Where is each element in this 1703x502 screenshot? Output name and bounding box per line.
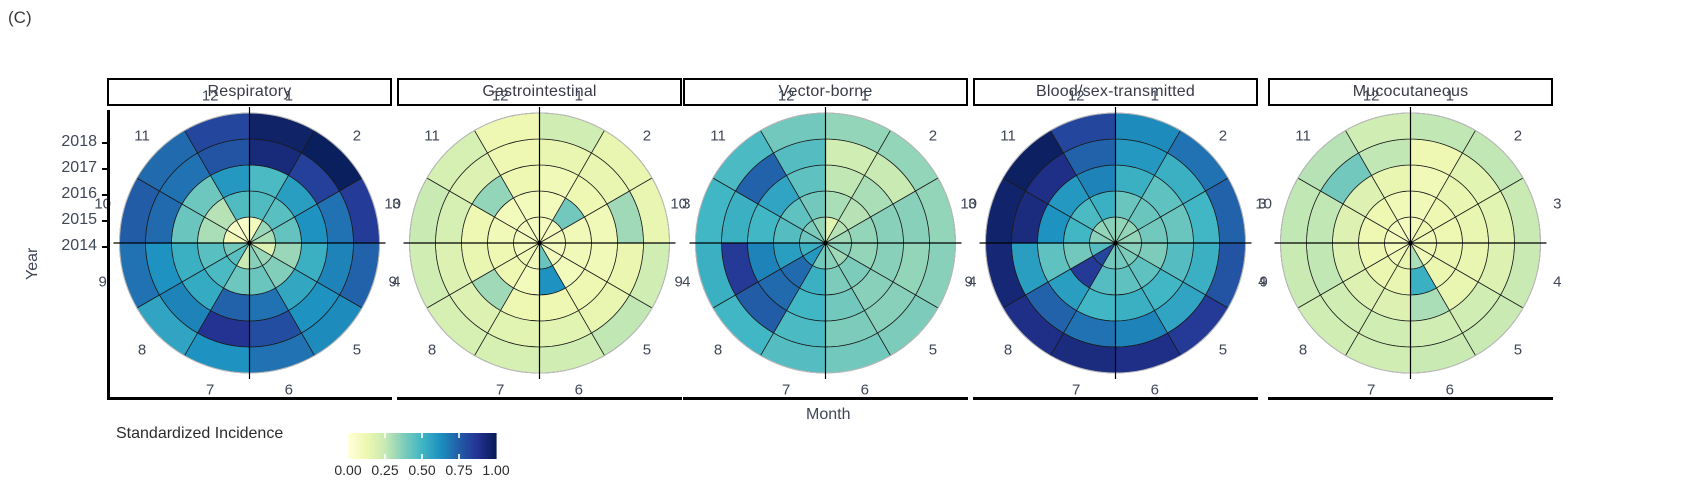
x-axis-title: Month xyxy=(806,406,850,424)
month-label-2: 2 xyxy=(643,127,651,144)
facet-strip-gastrointestinal: Gastrointestinal xyxy=(397,78,682,106)
month-label-2: 2 xyxy=(353,127,361,144)
facet-strip-blood-sex-transmitted: Blood/sex-transmitted xyxy=(973,78,1258,106)
month-label-11: 11 xyxy=(710,127,726,144)
month-label-12: 12 xyxy=(202,88,219,105)
month-label-2: 2 xyxy=(929,127,937,144)
legend-tick-mark xyxy=(384,433,386,438)
legend-title: Standardized Incidence xyxy=(116,425,283,443)
month-label-12: 12 xyxy=(492,88,509,105)
month-label-5: 5 xyxy=(1514,342,1522,359)
y-axis-spine xyxy=(107,110,110,397)
month-label-11: 11 xyxy=(424,127,440,144)
legend-tick-0.25: 0.25 xyxy=(371,462,398,478)
polar-plot-svg xyxy=(1268,110,1553,397)
month-label-9: 9 xyxy=(389,274,397,291)
panel-baseline xyxy=(397,397,682,400)
month-label-5: 5 xyxy=(1219,342,1227,359)
polar-origin xyxy=(1113,241,1117,245)
month-label-8: 8 xyxy=(138,342,146,359)
polar-heatmap-3: 123456789101112 xyxy=(683,110,968,397)
legend-tick-mark xyxy=(384,454,386,459)
month-label-9: 9 xyxy=(965,274,973,291)
month-label-8: 8 xyxy=(1004,342,1012,359)
year-tick-2016: 2016 xyxy=(0,185,97,203)
month-label-11: 11 xyxy=(1000,127,1016,144)
month-label-12: 12 xyxy=(778,88,795,105)
year-tick-2015: 2015 xyxy=(0,211,97,229)
month-label-1: 1 xyxy=(1446,88,1454,105)
facet-strip-vector-borne: Vector-borne xyxy=(683,78,968,106)
month-label-3: 3 xyxy=(1553,195,1561,212)
month-label-9: 9 xyxy=(99,274,107,291)
facet-strip-respiratory: Respiratory xyxy=(107,78,392,106)
legend-tick-mark xyxy=(458,454,460,459)
facet-strip-label: Blood/sex-transmitted xyxy=(1036,83,1195,101)
month-label-6: 6 xyxy=(285,381,293,398)
month-label-10: 10 xyxy=(960,195,977,212)
year-tick-2018: 2018 xyxy=(0,133,97,151)
legend-tick-0.00: 0.00 xyxy=(334,462,361,478)
legend-tick-0.50: 0.50 xyxy=(408,462,435,478)
polar-heatmap-1: 123456789101112 xyxy=(107,110,392,397)
legend-colorbar xyxy=(348,433,496,459)
month-label-11: 11 xyxy=(1295,127,1311,144)
panel-label: (C) xyxy=(8,8,32,28)
month-label-10: 10 xyxy=(1255,195,1272,212)
month-label-7: 7 xyxy=(206,381,214,398)
panel-baseline xyxy=(973,397,1258,400)
polar-plot-svg xyxy=(973,110,1258,397)
month-label-8: 8 xyxy=(428,342,436,359)
polar-origin xyxy=(247,241,251,245)
month-label-8: 8 xyxy=(1299,342,1307,359)
month-label-1: 1 xyxy=(575,88,583,105)
panel-baseline xyxy=(1268,397,1553,400)
polar-heatmap-4: 123456789101112 xyxy=(973,110,1258,397)
month-label-10: 10 xyxy=(670,195,687,212)
month-label-11: 11 xyxy=(134,127,150,144)
month-label-2: 2 xyxy=(1219,127,1227,144)
polar-plot-svg xyxy=(397,110,682,397)
polar-origin xyxy=(823,241,827,245)
month-label-10: 10 xyxy=(384,195,401,212)
month-label-9: 9 xyxy=(1260,274,1268,291)
month-label-1: 1 xyxy=(1151,88,1159,105)
panel-baseline xyxy=(107,397,392,400)
polar-origin xyxy=(537,241,541,245)
figure-panel-c: (C) Year 20182017201620152014 Month Resp… xyxy=(0,0,1703,502)
month-label-7: 7 xyxy=(496,381,504,398)
month-label-6: 6 xyxy=(1151,381,1159,398)
year-tick-2014: 2014 xyxy=(0,237,97,255)
legend-tick-mark xyxy=(421,433,423,438)
month-label-5: 5 xyxy=(929,342,937,359)
month-label-4: 4 xyxy=(1553,274,1561,291)
polar-plot-svg xyxy=(683,110,968,397)
month-label-1: 1 xyxy=(285,88,293,105)
polar-origin xyxy=(1408,241,1412,245)
polar-heatmap-2: 123456789101112 xyxy=(397,110,682,397)
legend-gradient-slice xyxy=(495,433,497,459)
year-tick-2017: 2017 xyxy=(0,159,97,177)
polar-plot-svg xyxy=(107,110,392,397)
month-label-1: 1 xyxy=(861,88,869,105)
month-label-8: 8 xyxy=(714,342,722,359)
month-label-6: 6 xyxy=(575,381,583,398)
legend-tick-1.00: 1.00 xyxy=(482,462,509,478)
facet-strip-mucocutaneous: Mucocutaneous xyxy=(1268,78,1553,106)
panel-baseline xyxy=(683,397,968,400)
polar-heatmap-5: 123456789101112 xyxy=(1268,110,1553,397)
month-label-5: 5 xyxy=(643,342,651,359)
month-label-5: 5 xyxy=(353,342,361,359)
legend-tick-0.75: 0.75 xyxy=(445,462,472,478)
legend-tick-mark xyxy=(458,433,460,438)
month-label-7: 7 xyxy=(1367,381,1375,398)
month-label-7: 7 xyxy=(782,381,790,398)
month-label-7: 7 xyxy=(1072,381,1080,398)
month-label-12: 12 xyxy=(1363,88,1380,105)
month-label-6: 6 xyxy=(861,381,869,398)
month-label-2: 2 xyxy=(1514,127,1522,144)
month-label-6: 6 xyxy=(1446,381,1454,398)
month-label-9: 9 xyxy=(675,274,683,291)
facet-strip-label: Respiratory xyxy=(207,83,291,101)
legend-tick-mark xyxy=(421,454,423,459)
month-label-12: 12 xyxy=(1068,88,1085,105)
